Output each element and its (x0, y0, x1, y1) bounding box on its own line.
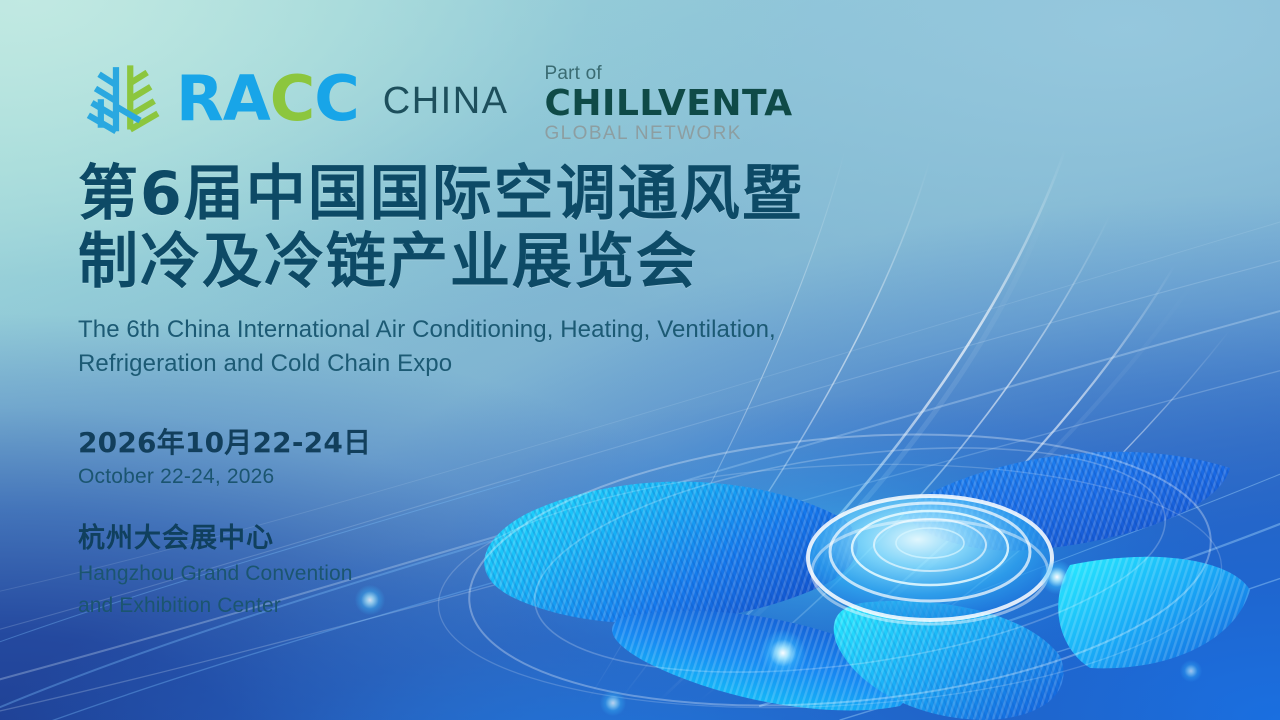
logo-lockup: RACC CHINA Part of CHILLVENTA GLOBAL NET… (78, 58, 960, 142)
subtitle-line-2: Refrigeration and Cold Chain Expo (78, 347, 960, 381)
page-title: 第6届中国国际空调通风暨 制冷及冷链产业展览会 (78, 160, 960, 297)
event-banner: RACC CHINA Part of CHILLVENTA GLOBAL NET… (0, 0, 1280, 720)
event-date-en: October 22-24, 2026 (78, 463, 960, 490)
racc-letter-a: A (223, 62, 270, 135)
event-venue-en-line-2: and Exhibition Center (78, 592, 960, 620)
racc-wordmark: RACC (176, 58, 359, 140)
event-venue-en-line-1: Hangzhou Grand Convention (78, 560, 960, 588)
event-venue-cn: 杭州大会展中心 (78, 522, 960, 556)
partner-prefix: Part of (545, 64, 793, 83)
logo-region-label: CHINA (383, 58, 509, 144)
partner-name: CHILLVENTA (545, 86, 793, 123)
snowflake-icon (78, 60, 170, 142)
page-subtitle: The 6th China International Air Conditio… (78, 313, 960, 381)
headline-line-2: 制冷及冷链产业展览会 (78, 228, 960, 296)
racc-letter-c2: C (314, 62, 359, 135)
headline-line-1: 第6届中国国际空调通风暨 (78, 160, 960, 228)
banner-content: RACC CHINA Part of CHILLVENTA GLOBAL NET… (0, 0, 960, 720)
racc-letter-c1: C (270, 62, 315, 135)
event-date-cn: 2026年10月22-24日 (78, 425, 960, 460)
subtitle-line-1: The 6th China International Air Conditio… (78, 313, 960, 347)
event-date: 2026年10月22-24日 October 22-24, 2026 (78, 425, 960, 490)
chillventa-lockup: Part of CHILLVENTA GLOBAL NETWORK (545, 64, 793, 143)
racc-letter-r: R (176, 62, 223, 135)
event-venue: 杭州大会展中心 Hangzhou Grand Convention and Ex… (78, 522, 960, 620)
partner-subtitle: GLOBAL NETWORK (545, 124, 793, 143)
